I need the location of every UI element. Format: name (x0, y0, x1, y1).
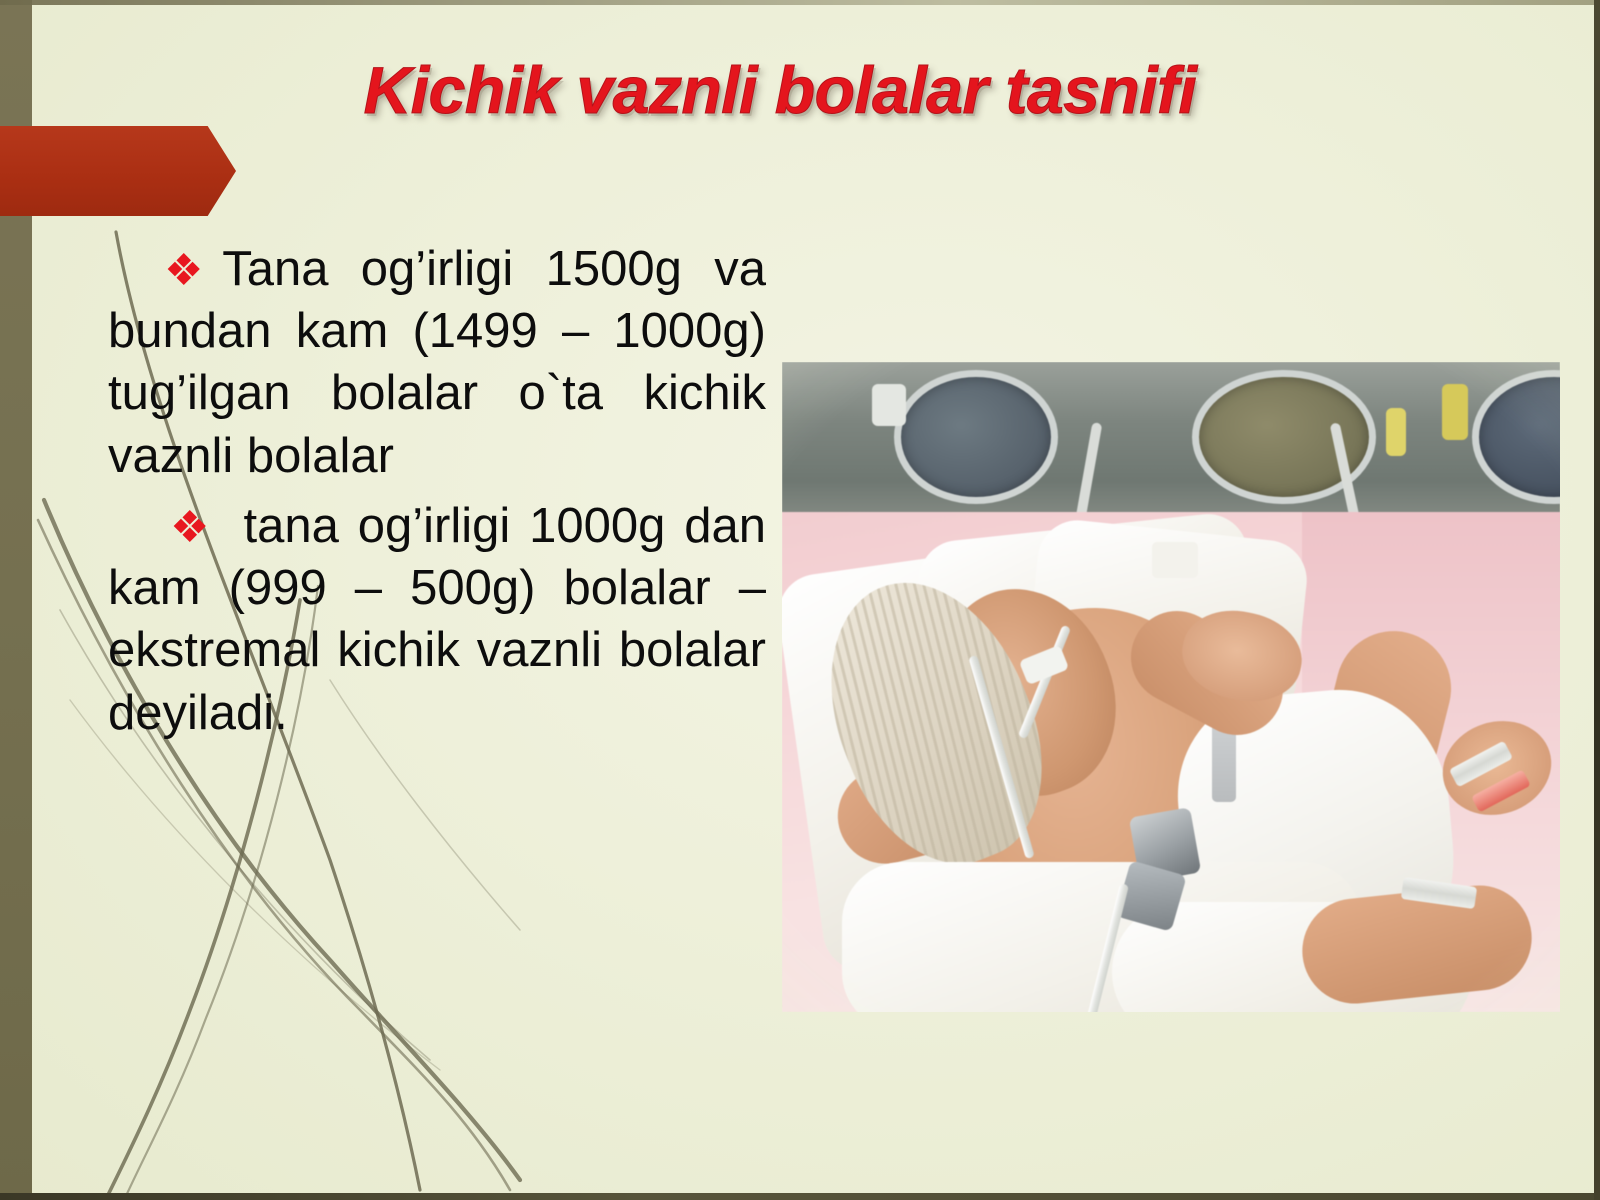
presentation-slide: Kichik vaznli bolalar tasnifi ❖Tana og’i… (0, 0, 1600, 1200)
equipment-clip (1152, 542, 1198, 578)
slide-body: ❖Tana og’irligi 1500g va bundan kam (149… (108, 238, 766, 744)
equipment-clip (1442, 384, 1468, 440)
equipment-clip (1386, 408, 1406, 456)
incubator-port-icon (894, 370, 1058, 504)
diamond-bullet-icon: ❖ (164, 246, 222, 295)
red-arrow-banner (0, 126, 236, 216)
slide-title: Kichik vaznli bolalar tasnifi (0, 52, 1560, 128)
bottom-border (0, 1193, 1600, 1200)
bullet-paragraph-1: ❖Tana og’irligi 1500g va bundan kam (149… (108, 238, 766, 487)
equipment-clip (872, 384, 906, 426)
bullet-paragraph-2: ❖ tana og’irligi 1000g dan kam (999 – 50… (108, 495, 766, 744)
infant-incubator-photo (782, 362, 1560, 1012)
photo-canvas (782, 362, 1560, 1012)
diamond-bullet-icon: ❖ (170, 503, 225, 552)
top-border (0, 0, 1600, 5)
right-border (1594, 0, 1600, 1200)
